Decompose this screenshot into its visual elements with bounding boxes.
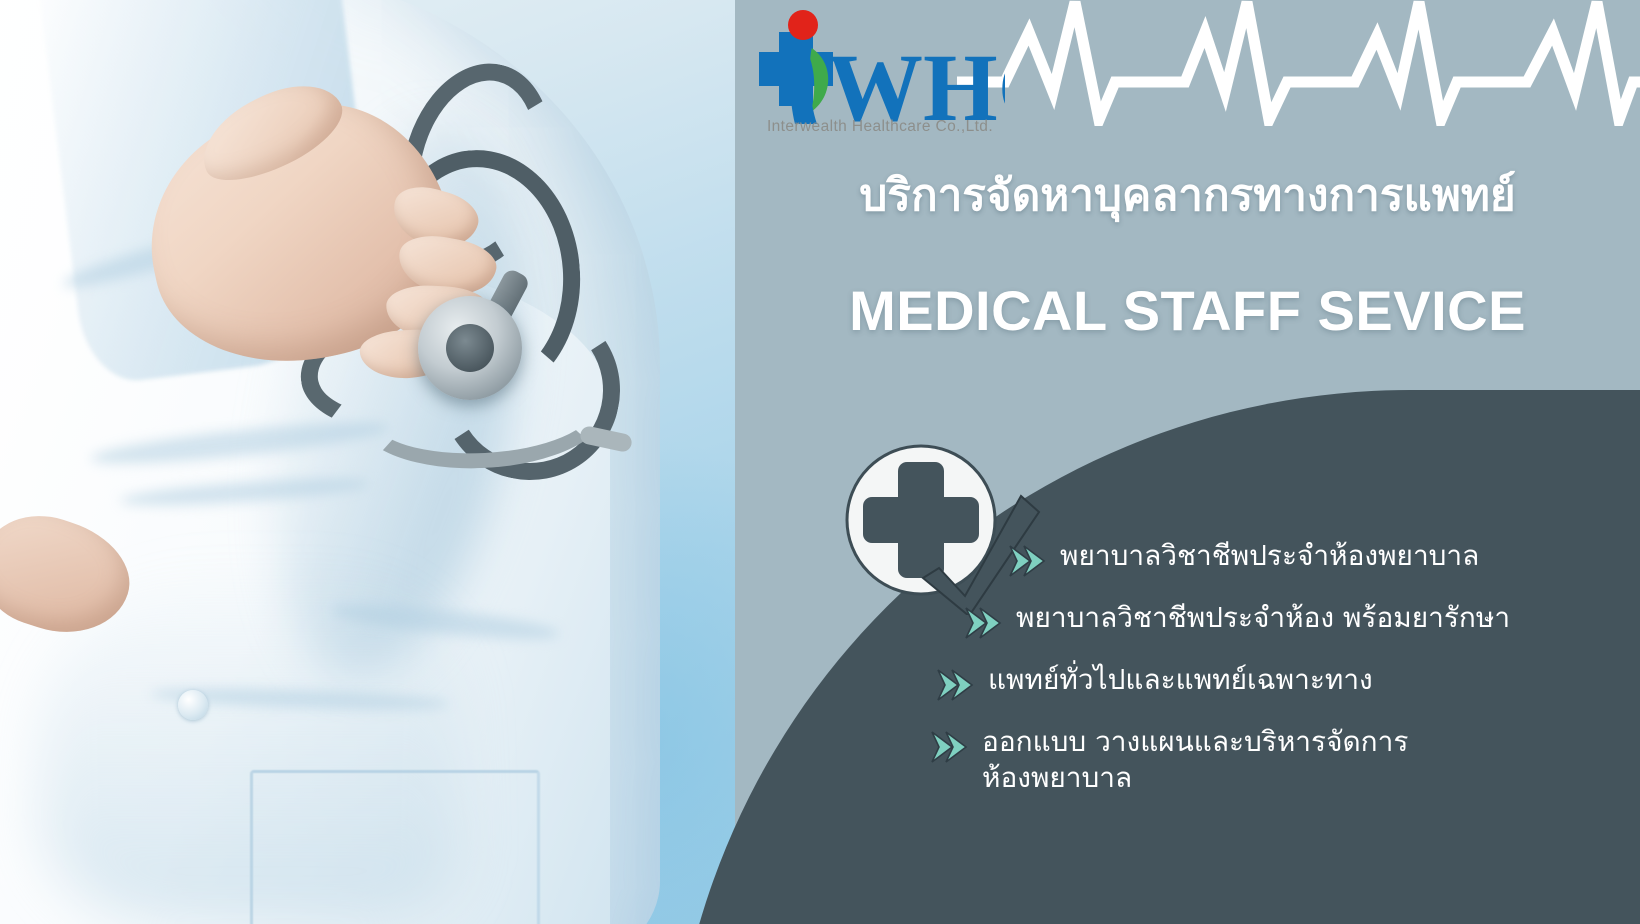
chevron-arrow-icon [930,730,970,764]
coat-pocket [250,770,540,924]
list-item: ออกแบบ วางแผนและบริหารจัดการ ห้องพยาบาล [930,724,1630,797]
logo-tagline: Interwealth Healthcare Co.,Ltd. [757,118,1003,136]
chevron-arrow-icon [964,606,1004,640]
logo-dot-icon [788,10,818,40]
list-item-label: ออกแบบ วางแผนและบริหารจัดการ ห้องพยาบาล [982,724,1408,797]
list-item: แพทย์ทั่วไปและแพทย์เฉพาะทาง [936,662,1630,708]
list-item-label: แพทย์ทั่วไปและแพทย์เฉพาะทาง [988,662,1373,698]
chevron-arrow-icon [1008,544,1048,578]
coat-button [178,690,208,720]
stethoscope-chestpiece [418,296,522,400]
list-item: พยาบาลวิชาชีพประจำห้อง พร้อมยารักษา [964,600,1630,646]
medical-staff-service-banner: WHC Interwealth Healthcare Co.,Ltd. บริก… [0,0,1640,924]
chevron-arrow-icon [936,668,976,702]
list-item: พยาบาลวิชาชีพประจำห้องพยาบาล [1008,538,1630,584]
service-list: พยาบาลวิชาชีพประจำห้องพยาบาล พยาบาลวิชาช… [930,538,1630,813]
list-item-label: พยาบาลวิชาชีพประจำห้อง พร้อมยารักษา [1016,600,1510,636]
english-headline: MEDICAL STAFF SEVICE [735,278,1640,343]
thai-headline: บริการจัดหาบุคลากรทางการแพทย์ [735,168,1640,223]
doctor-photo [0,0,735,924]
content-panel: WHC Interwealth Healthcare Co.,Ltd. บริก… [735,0,1640,924]
list-item-label: พยาบาลวิชาชีพประจำห้องพยาบาล [1060,538,1479,574]
heartbeat-line-icon [957,0,1640,126]
